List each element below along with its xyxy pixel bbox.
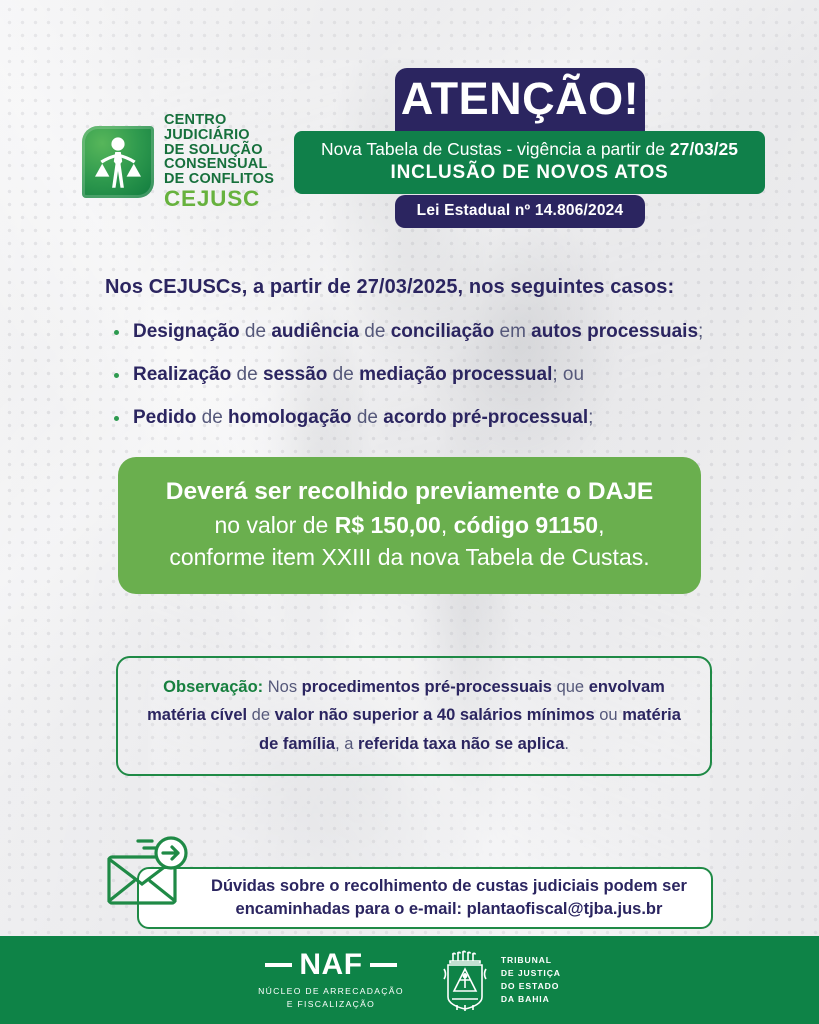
logo-line-2: JUDICIÁRIO xyxy=(164,128,274,143)
subtitle-prefix: Nova Tabela de Custas - vigência a parti… xyxy=(321,139,670,159)
header: CENTRO JUDICIÁRIO DE SOLUÇÃO CONSENSUAL … xyxy=(0,0,819,236)
daje-line-2-suffix: , xyxy=(598,512,604,538)
subtitle-green-band: Nova Tabela de Custas - vigência a parti… xyxy=(294,131,765,194)
email-contact-row: Dúvidas sobre o recolhimento de custas j… xyxy=(0,854,819,932)
list-item: Realização de sessão de mediação process… xyxy=(112,364,819,387)
email-line-2-prefix: encaminhadas para o e-mail: xyxy=(236,900,467,918)
daje-value: R$ 150,00 xyxy=(335,512,441,538)
law-reference-text: Lei Estadual nº 14.806/2024 xyxy=(417,202,624,219)
daje-line-2-prefix: no valor de xyxy=(215,512,335,538)
attention-title: ATENÇÃO! xyxy=(395,76,645,121)
daje-line-2-separator: , xyxy=(441,512,454,538)
daje-callout-box: Deverá ser recolhido previamente o DAJE … xyxy=(118,457,701,594)
email-address[interactable]: plantaofiscal@tjba.jus.br xyxy=(467,900,663,918)
cejusc-scales-figure-icon xyxy=(82,126,154,198)
observation-label: Observação: xyxy=(163,678,263,696)
observation-box: Observação: Nos procedimentos pré-proces… xyxy=(116,656,712,776)
email-contact-text: Dúvidas sobre o recolhimento de custas j… xyxy=(163,875,687,922)
cejusc-wordmark: CENTRO JUDICIÁRIO DE SOLUÇÃO CONSENSUAL … xyxy=(164,113,274,211)
poster-root: CENTRO JUDICIÁRIO DE SOLUÇÃO CONSENSUAL … xyxy=(0,0,819,1024)
list-item: Designação de audiência de conciliação e… xyxy=(112,321,819,344)
logo-line-1: CENTRO xyxy=(164,113,274,128)
cejusc-logo: CENTRO JUDICIÁRIO DE SOLUÇÃO CONSENSUAL … xyxy=(82,113,274,211)
poster-content: CENTRO JUDICIÁRIO DE SOLUÇÃO CONSENSUAL … xyxy=(0,0,819,1024)
cases-bullet-list: Designação de audiência de conciliação e… xyxy=(112,321,819,429)
subtitle-line-2: INCLUSÃO DE NOVOS ATOS xyxy=(310,161,749,185)
envelope-send-icon xyxy=(105,835,197,913)
email-line-1: Dúvidas sobre o recolhimento de custas j… xyxy=(211,877,687,895)
list-item: Pedido de homologação de acordo pré-proc… xyxy=(112,407,819,430)
daje-code: código 91150 xyxy=(454,512,598,538)
intro-heading: Nos CEJUSCs, a partir de 27/03/2025, nos… xyxy=(105,276,819,299)
subtitle-date: 27/03/25 xyxy=(670,139,738,159)
logo-line-4: CONSENSUAL xyxy=(164,157,274,172)
observation-text: Observação: Nos procedimentos pré-proces… xyxy=(140,673,688,758)
email-contact-box[interactable]: Dúvidas sobre o recolhimento de custas j… xyxy=(137,867,713,929)
logo-acronym: CEJUSC xyxy=(164,188,274,211)
subtitle-line-1: Nova Tabela de Custas - vigência a parti… xyxy=(310,139,749,161)
daje-line-1: Deverá ser recolhido previamente o DAJE xyxy=(144,475,675,508)
daje-line-2: no valor de R$ 150,00, código 91150, xyxy=(144,509,675,542)
daje-line-3: conforme item XXIII da nova Tabela de Cu… xyxy=(144,541,675,574)
logo-line-5: DE CONFLITOS xyxy=(164,172,274,187)
attention-banner: ATENÇÃO! Nova Tabela de Custas - vigênci… xyxy=(395,68,765,143)
law-reference-badge: Lei Estadual nº 14.806/2024 xyxy=(395,195,645,228)
logo-line-3: DE SOLUÇÃO xyxy=(164,143,274,158)
